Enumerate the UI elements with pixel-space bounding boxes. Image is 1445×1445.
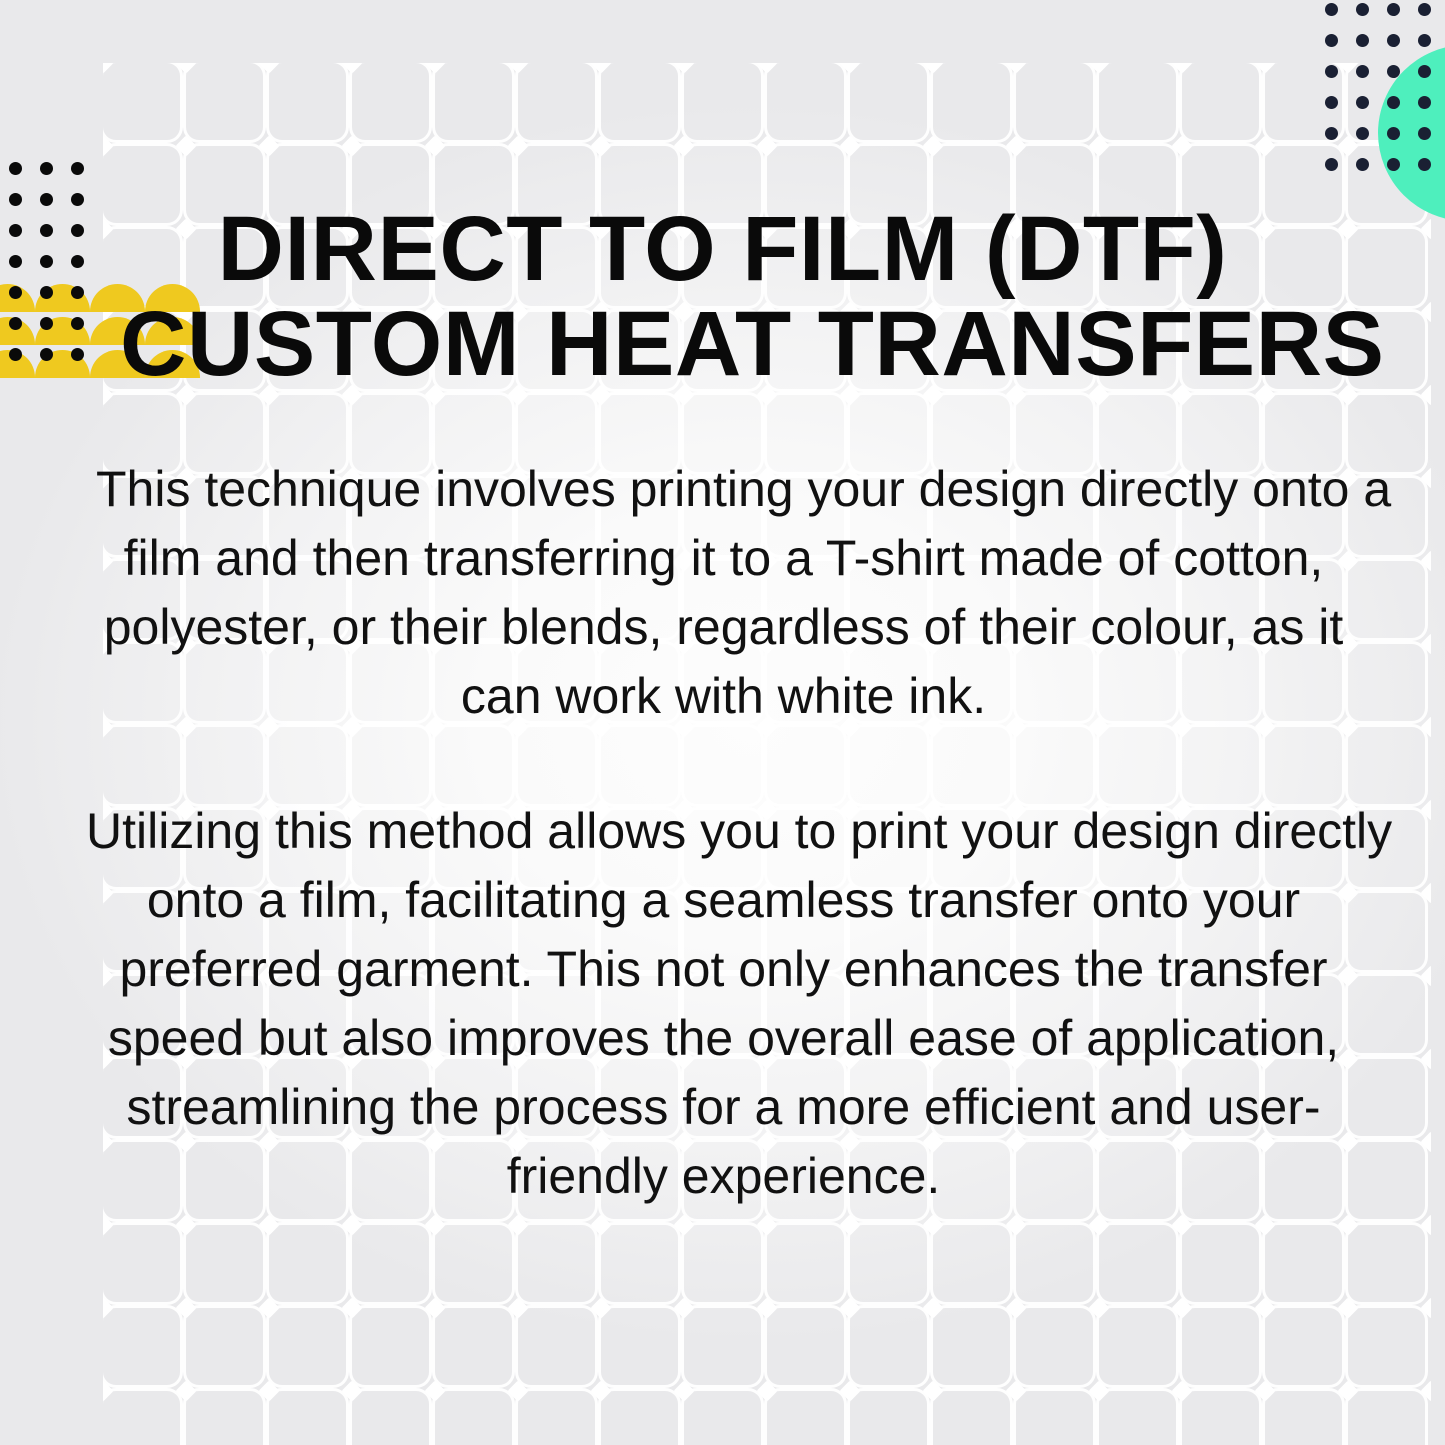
- paragraph-2-line-5: streamlining the process for a more effi…: [86, 1073, 1361, 1142]
- paragraph-2-line-3: preferred garment. This not only enhance…: [86, 935, 1361, 1004]
- paragraph-2-line-2: onto a film, facilitating a seamless tra…: [86, 866, 1361, 935]
- paragraph-1-line-1: This technique involves printing your de…: [96, 455, 1351, 524]
- content-layer: DIRECT TO FILM (DTF) CUSTOM HEAT TRANSFE…: [0, 0, 1445, 1445]
- paragraph-1: This technique involves printing your de…: [96, 455, 1351, 731]
- paragraph-2-line-6: friendly experience.: [86, 1142, 1361, 1211]
- paragraph-1-line-4: can work with white ink.: [96, 662, 1351, 731]
- title-line-1: DIRECT TO FILM (DTF): [120, 202, 1325, 297]
- page-title: DIRECT TO FILM (DTF) CUSTOM HEAT TRANSFE…: [120, 202, 1325, 392]
- paragraph-1-line-2: film and then transferring it to a T-shi…: [96, 524, 1351, 593]
- paragraph-2-line-1: Utilizing this method allows you to prin…: [86, 797, 1361, 866]
- paragraph-1-line-3: polyester, or their blends, regardless o…: [96, 593, 1351, 662]
- title-line-2: CUSTOM HEAT TRANSFERS: [120, 297, 1325, 392]
- paragraph-2-line-4: speed but also improves the overall ease…: [86, 1004, 1361, 1073]
- paragraph-2: Utilizing this method allows you to prin…: [86, 797, 1361, 1211]
- poster-canvas: DIRECT TO FILM (DTF) CUSTOM HEAT TRANSFE…: [0, 0, 1445, 1445]
